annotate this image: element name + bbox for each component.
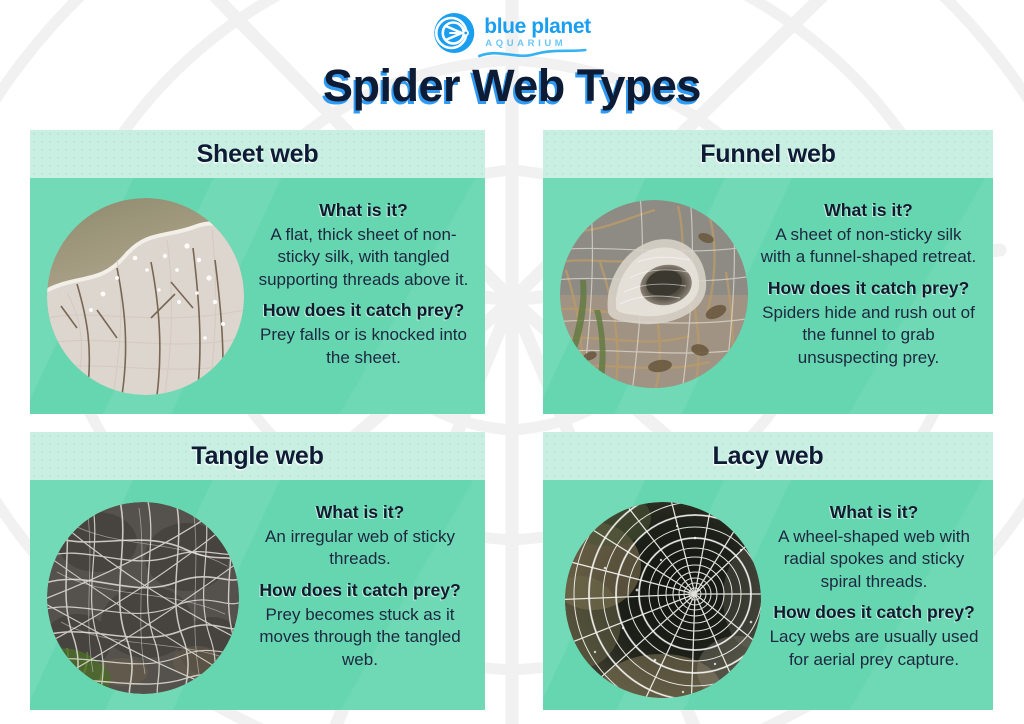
card-tangle-web: Tangle web xyxy=(30,432,485,710)
card-body-sheet-web: What is it? A flat, thick sheet of non-s… xyxy=(30,178,485,414)
what-is-it-label: What is it? xyxy=(769,502,979,524)
card-title: Funnel web xyxy=(700,140,836,169)
how-catch-prey-text: Lacy webs are usually used for aerial pr… xyxy=(769,626,979,671)
card-body-lacy-web: What is it? A wheel-shaped web with radi… xyxy=(543,480,993,710)
how-catch-prey-label: How does it catch prey? xyxy=(758,278,979,300)
brand-subtitle: AQUARIUM xyxy=(485,39,590,49)
copy-lacy-web: What is it? A wheel-shaped web with radi… xyxy=(763,488,993,671)
how-catch-prey-label: How does it catch prey? xyxy=(249,580,471,602)
what-is-it-text: A wheel-shaped web with radial spokes an… xyxy=(769,526,979,593)
photo-sheet-web xyxy=(47,198,244,395)
card-funnel-web: Funnel web xyxy=(543,130,993,414)
card-title: Sheet web xyxy=(197,140,319,169)
card-lacy-web: Lacy web xyxy=(543,432,993,710)
what-is-it-label: What is it? xyxy=(249,502,471,524)
what-is-it-text: A sheet of non-sticky silk with a funnel… xyxy=(758,224,979,269)
card-header-funnel-web: Funnel web xyxy=(543,130,993,178)
header: blue planet AQUARIUM Spider Web Types xyxy=(0,0,1024,128)
photo-lacy-web xyxy=(565,502,761,698)
how-catch-prey-text: Spiders hide and rush out of the funnel … xyxy=(758,302,979,369)
photo-tangle-web xyxy=(47,502,239,694)
brand-logo[interactable]: blue planet AQUARIUM xyxy=(433,12,590,54)
how-catch-prey-label: How does it catch prey? xyxy=(769,602,979,624)
how-catch-prey-label: How does it catch prey? xyxy=(256,300,471,322)
how-catch-prey-text: Prey becomes stuck as it moves through t… xyxy=(249,604,471,671)
what-is-it-label: What is it? xyxy=(256,200,471,222)
card-body-tangle-web: What is it? An irregular web of sticky t… xyxy=(30,480,485,710)
infographic-page: blue planet AQUARIUM Spider Web Types Sh… xyxy=(0,0,1024,724)
wave-swoosh-icon xyxy=(477,48,587,60)
card-header-sheet-web: Sheet web xyxy=(30,130,485,178)
brand-name: blue planet xyxy=(484,16,590,37)
copy-tangle-web: What is it? An irregular web of sticky t… xyxy=(243,488,485,671)
card-body-funnel-web: What is it? A sheet of non-sticky silk w… xyxy=(543,178,993,414)
page-title: Spider Web Types xyxy=(0,60,1024,112)
copy-funnel-web: What is it? A sheet of non-sticky silk w… xyxy=(752,186,993,369)
photo-funnel-web xyxy=(560,200,748,388)
fish-circle-logo-icon xyxy=(433,12,475,54)
card-header-tangle-web: Tangle web xyxy=(30,432,485,480)
copy-sheet-web: What is it? A flat, thick sheet of non-s… xyxy=(250,186,485,369)
card-title: Lacy web xyxy=(713,442,824,471)
card-header-lacy-web: Lacy web xyxy=(543,432,993,480)
what-is-it-text: A flat, thick sheet of non-sticky silk, … xyxy=(256,224,471,291)
card-title: Tangle web xyxy=(191,442,323,471)
card-sheet-web: Sheet web xyxy=(30,130,485,414)
how-catch-prey-text: Prey falls or is knocked into the sheet. xyxy=(256,324,471,369)
what-is-it-text: An irregular web of sticky threads. xyxy=(249,526,471,571)
what-is-it-label: What is it? xyxy=(758,200,979,222)
